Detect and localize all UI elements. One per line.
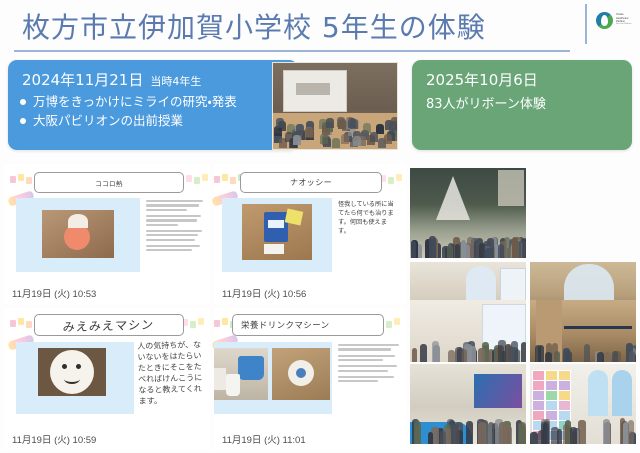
crowd bbox=[410, 206, 526, 258]
card-title-frame: 栄養ドリンクマシーン bbox=[232, 314, 384, 336]
page-title: 枚方市立伊加賀小学校 5年生の体験 bbox=[22, 6, 486, 46]
osaka-healthcare-pavilion-logo: Osaka Healthcare Pavilion Nest for Rebor… bbox=[596, 7, 638, 33]
card-title-frame: みえみえマシン bbox=[34, 314, 184, 336]
poster-header: 枚方市立伊加賀小学校 5年生の体験 Osaka Healthcare Pavil… bbox=[0, 0, 640, 52]
card-title: みえみえマシン bbox=[63, 315, 156, 334]
photo-classroom-lecture bbox=[272, 62, 398, 150]
card-note: 人の気持ちが、ないないをはたらいたときにそこをたべればけんこうになると教えてくれ… bbox=[137, 339, 205, 407]
info-box-2025-date: 2025年10月6日 bbox=[426, 69, 538, 90]
poster-page: 枚方市立伊加賀小学校 5年生の体験 Osaka Healthcare Pavil… bbox=[0, 0, 640, 453]
photo-queue bbox=[410, 300, 526, 362]
photo-assembly bbox=[410, 168, 526, 258]
card-timestamp: 11月19日 (火) 11:01 bbox=[222, 432, 306, 446]
card-note: 栄養を考えて、飲物を作ってくれたり、病気を治めて、個別に合わせたドリンクを出して… bbox=[338, 344, 400, 386]
info-bullet: 大阪パビリオンの出前授業 bbox=[18, 111, 237, 130]
card-timestamp: 11月19日 (火) 10:59 bbox=[12, 432, 96, 446]
card-kokoro[interactable]: ココロ熱 11月19日 (火) 10:53 bbox=[4, 164, 210, 304]
photo-colorwall bbox=[530, 364, 636, 444]
card-title-frame: ココロ熱 bbox=[34, 172, 184, 193]
card-photo-pane bbox=[214, 342, 332, 414]
card-timestamp: 11月19日 (火) 10:53 bbox=[12, 286, 96, 300]
card-title-frame: ナオッシー bbox=[240, 172, 382, 193]
photo-corridor bbox=[530, 300, 636, 362]
card-photo-pane bbox=[16, 198, 140, 272]
card-timestamp: 11月19日 (火) 10:56 bbox=[222, 286, 306, 300]
logo-tagline: Nest for Reborn bbox=[616, 23, 631, 26]
card-note bbox=[146, 200, 204, 255]
header-rule bbox=[14, 50, 570, 52]
header-divider bbox=[585, 4, 587, 44]
info-box-2024: 2024年11月21日当時4年生 万博をきっかけにミライの研究・発表 大阪パビリ… bbox=[8, 60, 298, 150]
info-box-2025-subtitle: 83人がリボーン体験 bbox=[426, 93, 546, 112]
info-box-2024-bullets: 万博をきっかけにミライの研究・発表 大阪パビリオンの出前授業 bbox=[18, 92, 237, 130]
card-nutrition-drink[interactable]: 栄養ドリンクマシーン 栄養を考えて、飲物を作ってくれたり、病気を治めて、個別に合… bbox=[214, 308, 406, 450]
card-naoshi[interactable]: ナオッシー 怪我している所に当てたら何でも治ります。何回も使えます。 11月19… bbox=[214, 164, 406, 304]
photo-bigscreen bbox=[410, 364, 526, 444]
card-photo-pane bbox=[222, 198, 332, 272]
card-title: ココロ熱 bbox=[95, 178, 123, 188]
info-box-2025: 2025年10月6日 83人がリボーン体験 bbox=[412, 60, 632, 150]
info-box-2024-date-note: 当時4年生 bbox=[150, 75, 201, 88]
info-box-2024-date-row: 2024年11月21日当時4年生 bbox=[22, 69, 201, 90]
card-title: ナオッシー bbox=[290, 177, 332, 188]
card-miemie[interactable]: みえみえマシン 人の気持ちが、ないないをはたらいたときにそこをたべればけんこうに… bbox=[4, 308, 210, 450]
card-photo-pane bbox=[16, 342, 134, 414]
info-bullet: 万博をきっかけにミライの研究・発表 bbox=[18, 92, 237, 111]
info-box-2024-date: 2024年11月21日 bbox=[22, 71, 143, 89]
card-note: 怪我している所に当てたら何でも治ります。何回も使えます。 bbox=[338, 200, 398, 236]
card-title: 栄養ドリンクマシーン bbox=[241, 319, 330, 331]
pavilion-leaf-icon bbox=[596, 12, 613, 29]
